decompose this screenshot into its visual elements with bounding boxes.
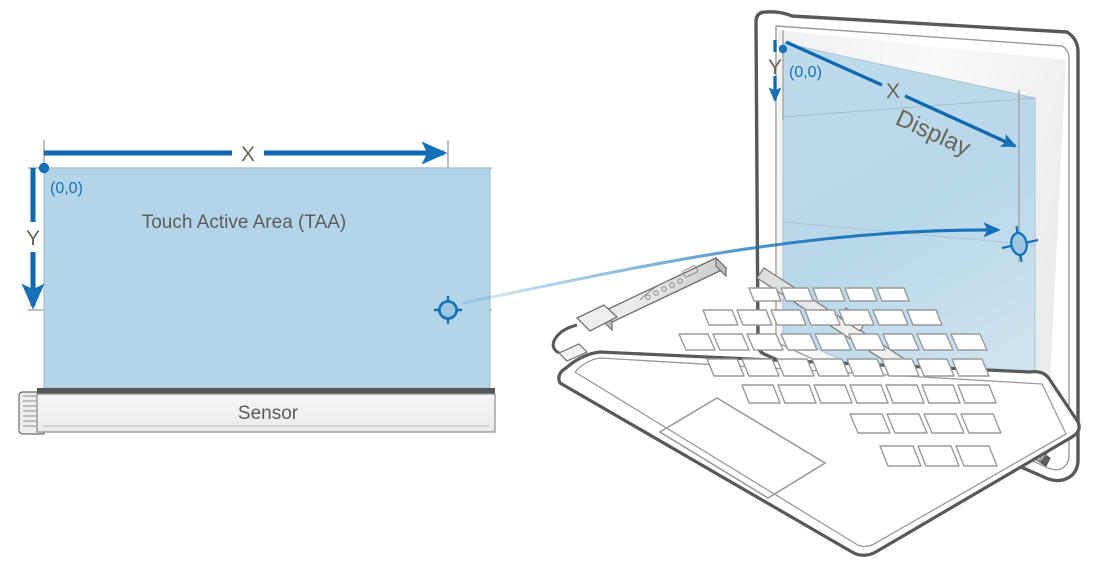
x-dimension-label: X	[241, 143, 255, 166]
touch-active-area-label: Touch Active Area (TAA)	[142, 212, 347, 233]
sensor-module-end-right	[716, 258, 726, 276]
origin-dot	[39, 163, 49, 173]
sensor-label: Sensor	[238, 403, 299, 424]
display-y-dimension-label: Y	[768, 56, 782, 79]
laptop-illustration-group: X Y (0,0) Display	[553, 12, 1079, 555]
left-panel-group: X Y (0,0) Touch Active Area (TAA)	[19, 140, 495, 434]
diagram-canvas: X Y (0,0) Touch Active Area (TAA)	[0, 0, 1097, 574]
display-origin-dot	[779, 45, 787, 53]
sensor-top-edge	[37, 388, 495, 394]
display-origin-label: (0,0)	[789, 64, 822, 81]
laptop-base-shell	[559, 352, 1079, 555]
origin-label: (0,0)	[50, 180, 83, 197]
touch-active-area-rect	[44, 168, 490, 388]
y-dimension-label: Y	[26, 227, 40, 250]
sensor-bar-group: Sensor	[19, 388, 495, 434]
diagram-svg: X Y (0,0) Touch Active Area (TAA)	[0, 0, 1097, 574]
display-x-dimension-label: X	[886, 80, 900, 103]
